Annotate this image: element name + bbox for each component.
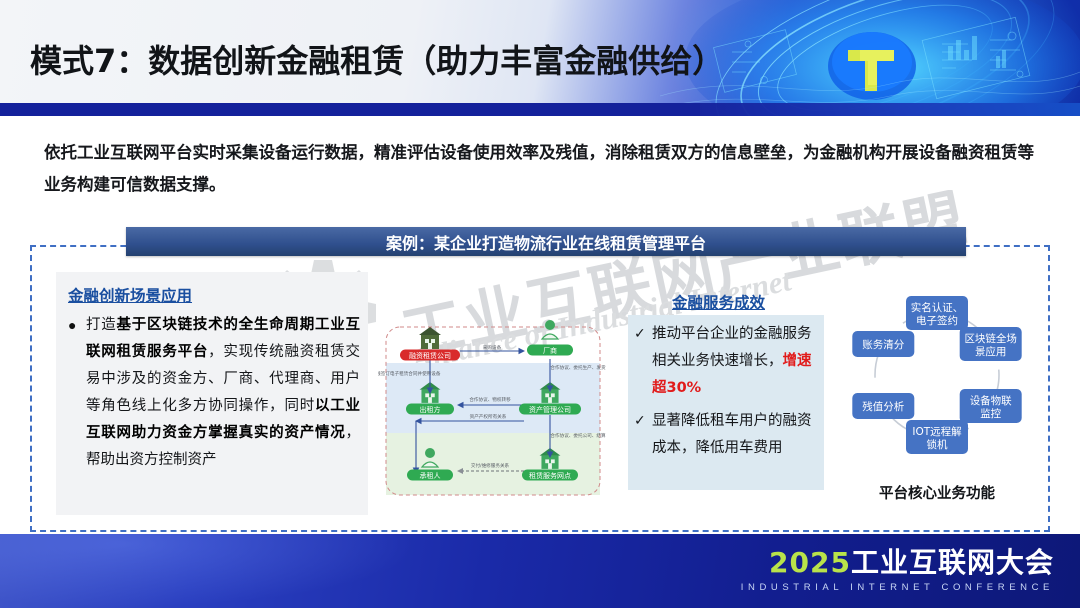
flow-node: 融资租赁公司 xyxy=(400,350,460,361)
body-text: 打造 xyxy=(86,317,117,333)
circle-node: 设备物联监控 xyxy=(960,389,1022,423)
flow-node-label: 资产管理公司 xyxy=(529,405,571,414)
flow-edge-label: 在线签订电子租赁合同并使用设备 xyxy=(378,370,441,377)
header-accent-bar-right xyxy=(700,103,1080,116)
result-item-text: 显著降低租车用户的融资成本，降低用车费用 xyxy=(652,413,812,456)
flow-node-label: 租赁服务网点 xyxy=(529,471,571,480)
leasing-business-flow-diagram: 融资租赁公司厂商出租方资产管理公司承租人租赁服务网点采购设备合作协议、委托生产、… xyxy=(378,305,610,510)
header-accent-bar xyxy=(0,103,700,116)
page-title: 模式7：数据创新金融租赁（助力丰富金融供给） xyxy=(30,36,724,82)
flow-edge-label: 合作协议、委托公司、结算 xyxy=(550,432,606,439)
flow-node-label: 融资租赁公司 xyxy=(409,351,451,360)
result-list-item: ✓推动平台企业的金融服务相关业务快速增长，增速超30% xyxy=(628,315,824,402)
circle-node: 账务清分 xyxy=(852,331,914,357)
financial-service-results-panel: ✓推动平台企业的金融服务相关业务快速增长，增速超30%✓显著降低租车用户的融资成… xyxy=(628,315,824,490)
flow-node: 厂商 xyxy=(527,345,573,356)
circle-node-label: 残值分析 xyxy=(862,400,904,413)
logo-cn-name: 工业互联网大会 xyxy=(851,546,1054,579)
flow-edge-label: 合作协议、委托生产、发货 xyxy=(550,364,606,371)
result-panel-heading: 金融服务成效 xyxy=(672,291,765,313)
flow-edge-label: 资产产权所有关系 xyxy=(470,413,507,420)
logo-year: 2025 xyxy=(769,546,851,579)
circle-node-label: 账务清分 xyxy=(862,338,904,351)
logo-subtitle: INDUSTRIAL INTERNET CONFERENCE xyxy=(741,582,1054,593)
person-icon xyxy=(542,320,558,339)
conference-logo: 2025工业互联网大会 INDUSTRIAL INTERNET CONFEREN… xyxy=(741,547,1054,593)
flow-node-label: 出租方 xyxy=(420,405,441,414)
circle-diagram-caption: 平台核心业务功能 xyxy=(842,482,1032,503)
result-list-item: ✓显著降低租车用户的融资成本，降低用车费用 xyxy=(628,402,824,462)
left-panel-body: ● 打造基于区块链技术的全生命周期工业互联网租赁服务平台，实现传统融资租赁交易中… xyxy=(68,312,360,474)
flow-node: 出租方 xyxy=(406,404,454,415)
circle-node: 残值分析 xyxy=(852,393,914,419)
platform-core-functions-diagram: 实名认证、电子签约区块链全场景应用设备物联监控IOT远程解锁机残值分析账务清分 xyxy=(842,278,1032,478)
flow-node: 租赁服务网点 xyxy=(522,470,578,481)
flow-edge-label: 合作协议、物权转移 xyxy=(469,396,511,403)
slide-root: 模式7：数据创新金融租赁（助力丰富金融供给） 依托工业互联网平台实时采集设备运行… xyxy=(0,0,1080,608)
financial-innovation-panel: 金融创新场景应用 ● 打造基于区块链技术的全生命周期工业互联网租赁服务平台，实现… xyxy=(56,272,368,515)
left-panel-heading: 金融创新场景应用 xyxy=(68,284,192,306)
circle-node: 区块链全场景应用 xyxy=(960,327,1022,361)
check-icon: ✓ xyxy=(634,408,646,435)
flow-edge-label: 交付/维修服务关系 xyxy=(471,462,510,469)
circle-node: IOT远程解锁机 xyxy=(906,420,968,454)
flow-node: 承租人 xyxy=(407,470,453,481)
flow-edge-label: 采购设备 xyxy=(483,344,502,351)
check-icon: ✓ xyxy=(634,321,646,348)
left-panel-text: 打造基于区块链技术的全生命周期工业互联网租赁服务平台，实现传统融资租赁交易中涉及… xyxy=(86,312,360,474)
bullet-marker: ● xyxy=(68,312,86,474)
lead-paragraph: 依托工业互联网平台实时采集设备运行数据，精准评估设备使用效率及残值，消除租赁双方… xyxy=(44,137,1034,201)
slide-footer: 2025工业互联网大会 INDUSTRIAL INTERNET CONFEREN… xyxy=(0,534,1080,608)
flow-node-label: 承租人 xyxy=(420,471,441,480)
flow-node-label: 厂商 xyxy=(543,346,557,355)
slide-header: 模式7：数据创新金融租赁（助力丰富金融供给） xyxy=(0,0,1080,116)
circle-node: 实名认证、电子签约 xyxy=(906,296,968,330)
case-title-bar: 案例：某企业打造物流行业在线租赁管理平台 xyxy=(126,227,966,256)
building-icon xyxy=(419,327,441,349)
flow-node: 资产管理公司 xyxy=(519,404,581,415)
logo-main-line: 2025工业互联网大会 xyxy=(741,547,1054,579)
